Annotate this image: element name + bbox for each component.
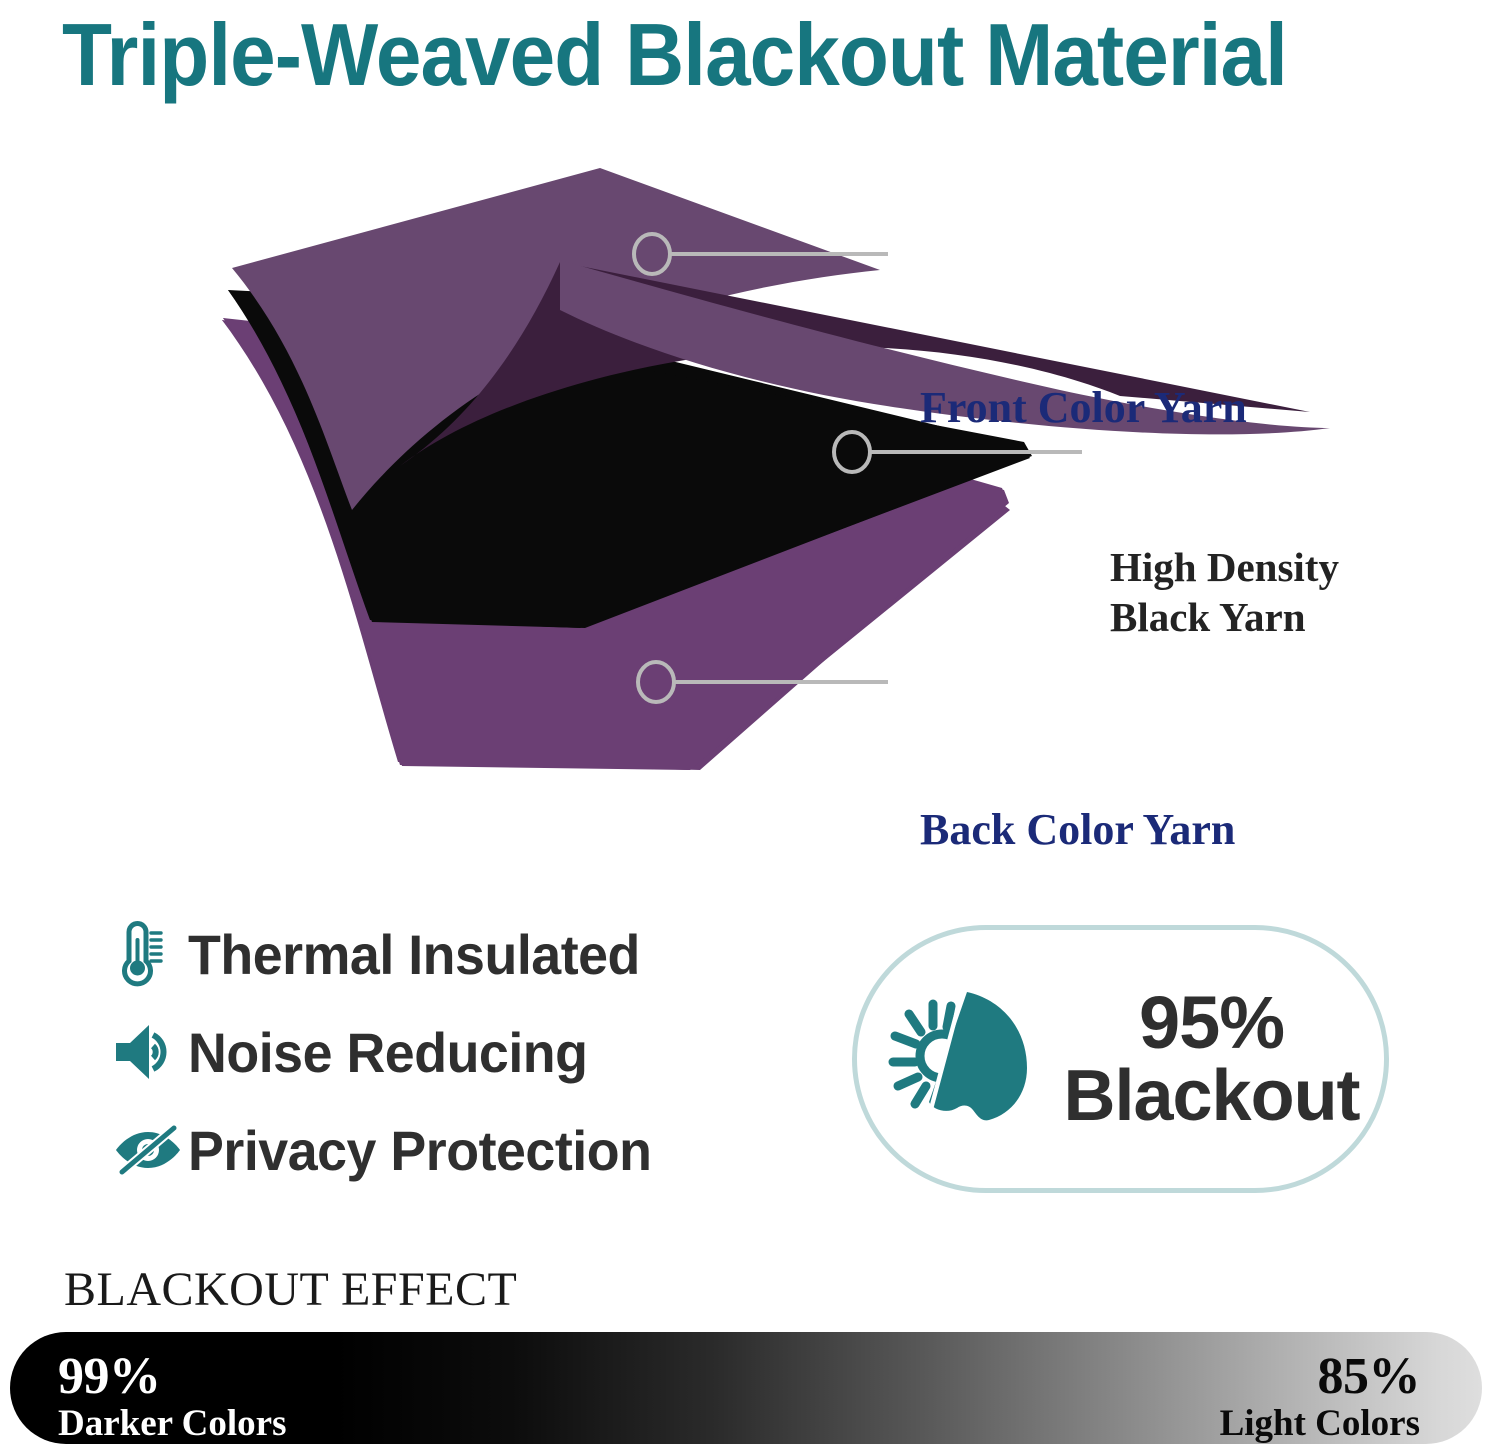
feature-item-thermal-insulated: Thermal Insulated	[112, 905, 812, 1003]
sun-blocked-icon	[885, 982, 1035, 1137]
thermometer-icon	[112, 918, 188, 990]
feature-list: Thermal Insulated Noise Reducing Privacy…	[112, 905, 812, 1199]
darker-colors-caption: Darker Colors	[58, 1405, 286, 1443]
callout-marker-back	[638, 662, 674, 702]
feature-label: Privacy Protection	[188, 1118, 651, 1183]
callout-label-high-density-black-yarn: High Density Black Yarn	[1110, 542, 1420, 642]
darker-colors-percent: 99%	[58, 1350, 286, 1403]
callout-marker-front	[634, 234, 670, 274]
feature-item-privacy-protection: Privacy Protection	[112, 1101, 812, 1199]
fabric-layer-diagram: Front Color Yarn High Density Black Yarn…	[0, 150, 1492, 830]
callout-label-back-color-yarn: Back Color Yarn	[920, 804, 1235, 855]
blackout-percentage-badge: 95% Blackout	[852, 925, 1389, 1193]
badge-word: Blackout	[1063, 1060, 1359, 1132]
badge-text: 95% Blackout	[1063, 986, 1359, 1132]
blackout-effect-heading: BLACKOUT EFFECT	[64, 1262, 517, 1317]
feature-label: Thermal Insulated	[188, 922, 640, 987]
page-title: Triple-Weaved Blackout Material	[62, 11, 1287, 99]
blackout-gradient-bar: 99% Darker Colors 85% Light Colors	[10, 1332, 1482, 1444]
feature-item-noise-reducing: Noise Reducing	[112, 1003, 812, 1101]
feature-label: Noise Reducing	[188, 1020, 588, 1085]
light-colors-caption: Light Colors	[1220, 1405, 1420, 1443]
bar-label-light-colors: 85% Light Colors	[1220, 1350, 1420, 1443]
callout-leaders	[0, 150, 1492, 830]
light-colors-percent: 85%	[1220, 1350, 1420, 1403]
badge-percent: 95%	[1063, 986, 1359, 1060]
callout-marker-black	[834, 432, 870, 472]
callout-label-front-color-yarn: Front Color Yarn	[920, 382, 1247, 433]
title-bar: Triple-Weaved Blackout Material	[0, 0, 1492, 110]
eye-slash-icon	[112, 1122, 188, 1178]
speaker-icon	[112, 1022, 188, 1082]
bar-label-darker-colors: 99% Darker Colors	[58, 1350, 286, 1443]
